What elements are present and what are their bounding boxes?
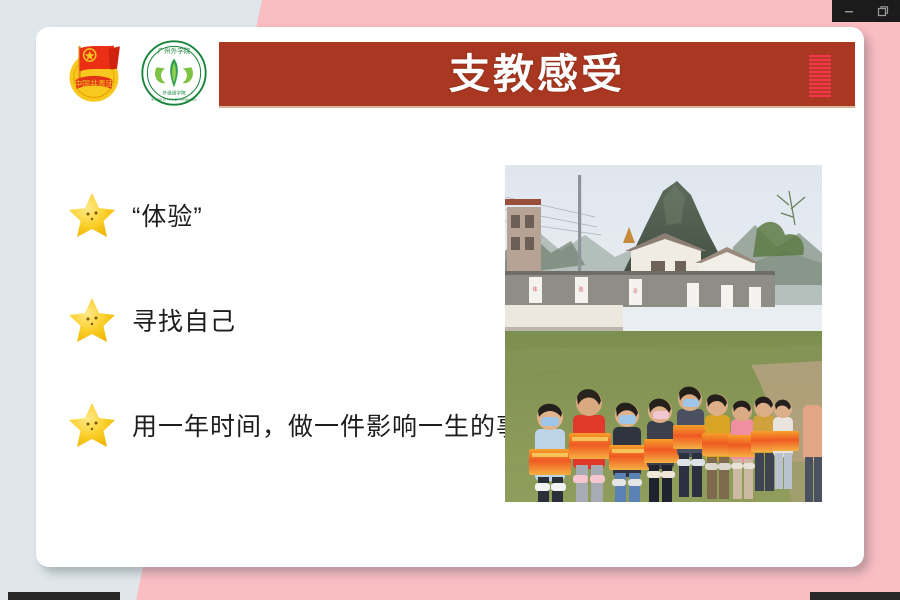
restore-window-icon xyxy=(877,5,890,18)
svg-text:寻: 寻 xyxy=(632,289,637,295)
presentation-slide: 中国共青团 广州外学院 外语语学院 School of Foreign Lang… xyxy=(36,27,864,567)
slide-title-banner: 支教感受 xyxy=(219,42,855,108)
list-item: 用一年时间，做一件影响一生的事 xyxy=(66,372,496,477)
taskbar-segment-left xyxy=(8,592,120,600)
stripe-decoration-icon xyxy=(809,55,831,97)
page-title: 支教感受 xyxy=(449,54,625,95)
screen-root: 中国共青团 广州外学院 外语语学院 School of Foreign Lang… xyxy=(0,0,900,600)
minimize-icon xyxy=(843,5,855,17)
svg-text:中国共青团: 中国共青团 xyxy=(74,79,114,89)
list-item: “体验” xyxy=(66,162,496,267)
communist-youth-league-emblem: 中国共青团 xyxy=(58,37,130,109)
school-of-foreign-languages-logo: 广州外学院 外语语学院 School of Foreign Languages xyxy=(138,37,210,109)
list-item: 寻找自己 xyxy=(66,267,496,372)
svg-text:School of Foreign Languages: School of Foreign Languages xyxy=(151,97,197,101)
bullet-list: “体验” 寻找自己 xyxy=(66,162,496,477)
photo-image: 体验寻 xyxy=(505,165,822,502)
village-students-group-photo: 体验寻 xyxy=(505,165,822,502)
list-item-label: “体验” xyxy=(132,197,203,233)
list-item-label: 寻找自己 xyxy=(132,302,236,338)
minimize-button[interactable] xyxy=(838,0,860,22)
list-item-label: 用一年时间，做一件影响一生的事 xyxy=(132,407,522,443)
taskbar-segment-right xyxy=(810,592,900,600)
star-icon xyxy=(66,189,118,241)
restore-button[interactable] xyxy=(872,0,894,22)
star-icon xyxy=(66,294,118,346)
svg-text:广州外学院: 广州外学院 xyxy=(158,46,191,55)
svg-text:体: 体 xyxy=(532,286,537,293)
svg-text:验: 验 xyxy=(578,286,583,293)
logo-row: 中国共青团 广州外学院 外语语学院 School of Foreign Lang… xyxy=(58,37,210,109)
window-controls-bar xyxy=(832,0,900,22)
star-icon xyxy=(66,399,118,451)
